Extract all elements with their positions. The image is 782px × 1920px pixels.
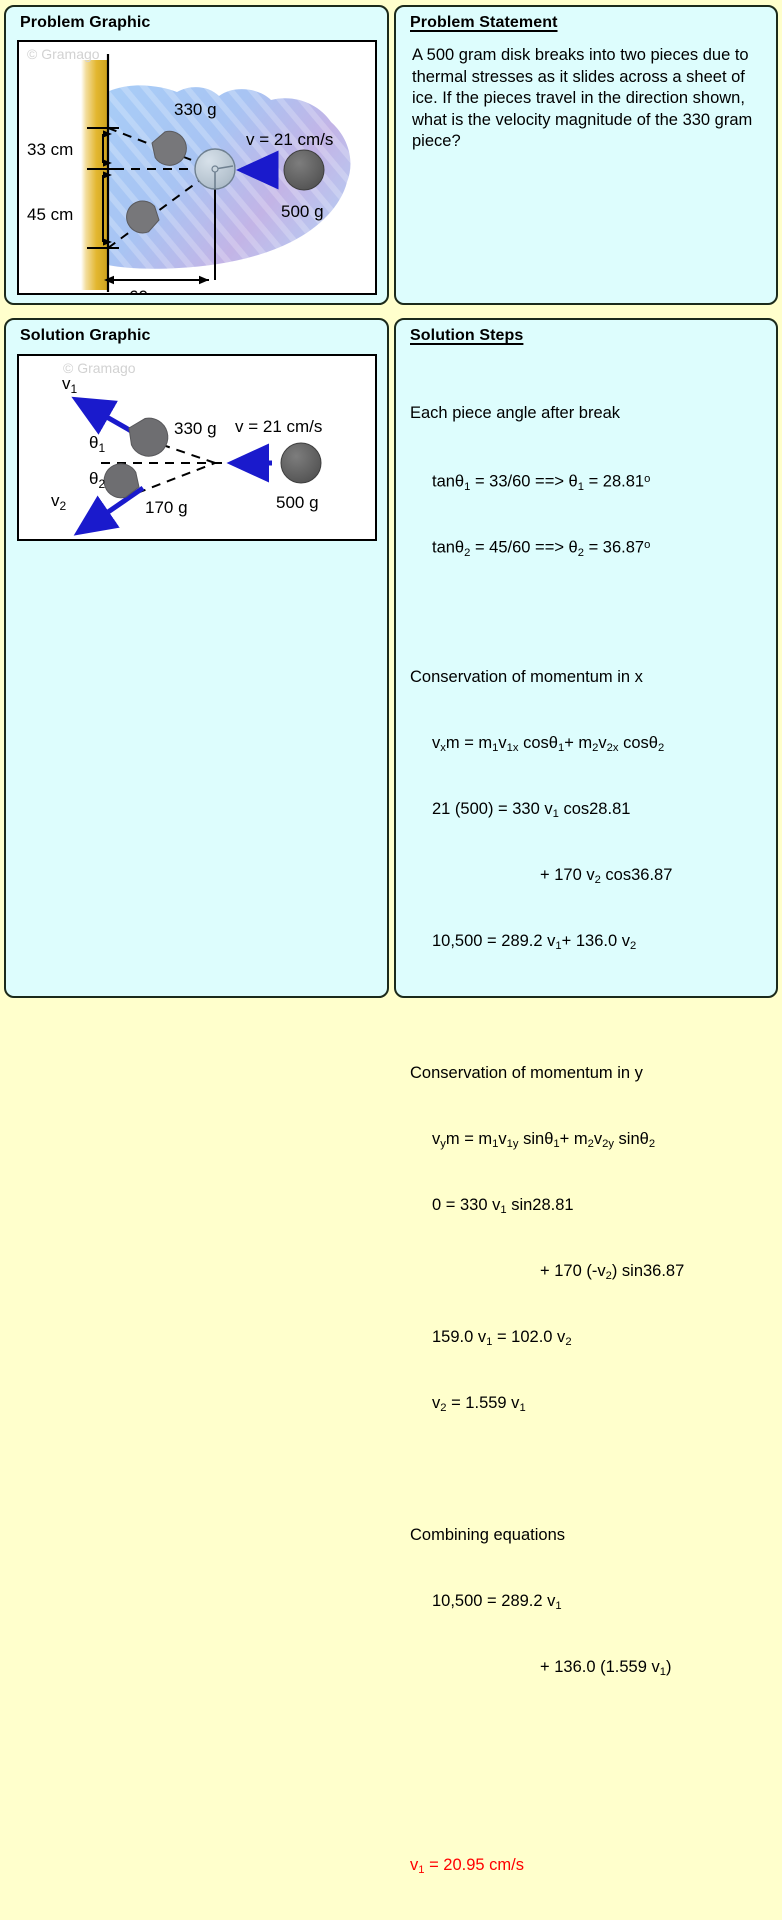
watermark-problem: © Gramago: [27, 46, 100, 62]
solution-label-v1: v1: [62, 374, 78, 396]
solution-diagram-svg: v1 v2 θ1 θ2 330 g 170 g v = 21 cm/s 500 …: [19, 356, 375, 539]
step-line: vym = m1v1y sinθ1+ m2v2y sinθ2: [410, 1128, 770, 1150]
step-line: Each piece angle after break: [410, 402, 770, 424]
label-500g: 500 g: [281, 202, 324, 221]
problem-statement-text: A 500 gram disk breaks into two pieces d…: [412, 45, 764, 153]
solution-graphic-title: Solution Graphic: [20, 327, 151, 345]
label-velocity: v = 21 cm/s: [246, 130, 333, 149]
step-line: Combining equations: [410, 1524, 770, 1546]
solution-steps-panel: Solution Steps Each piece angle after br…: [394, 318, 778, 998]
solution-label-theta1: θ1: [89, 433, 105, 455]
problem-diagram: 330 g v = 21 cm/s 500 g 33 cm 45 cm 60 c…: [17, 40, 377, 295]
solution-label-500g: 500 g: [276, 493, 319, 512]
solution-label-velocity: v = 21 cm/s: [235, 417, 322, 436]
label-60cm: 60 cm: [129, 287, 175, 293]
solution-fragment-170g: [99, 459, 142, 502]
label-45cm: 45 cm: [27, 205, 73, 224]
final-answer: v1 = 20.95 cm/s: [410, 1854, 770, 1876]
step-spacer: [410, 1458, 770, 1480]
step-line: + 170 (-v2) sin36.87: [410, 1260, 770, 1282]
step-line: Conservation of momentum in x: [410, 666, 770, 688]
step-line: tanθ2 = 45/60 ==> θ2 = 36.87o: [410, 534, 770, 556]
solution-label-v2: v2: [51, 491, 67, 513]
label-330g: 330 g: [174, 100, 217, 119]
incoming-disk-500g: [284, 150, 324, 190]
wall: [81, 54, 109, 292]
break-disk: [195, 149, 235, 189]
solution-fragment-330g: [126, 414, 172, 460]
step-line: Conservation of momentum in y: [410, 1062, 770, 1084]
solution-label-170g: 170 g: [145, 498, 188, 517]
solution-disk-500g: [281, 443, 321, 483]
worksheet-page: Problem Graphic: [0, 0, 782, 1003]
step-line: v2 = 1.559 v1: [410, 1392, 770, 1414]
problem-statement-title: Problem Statement: [410, 14, 558, 32]
problem-statement-panel: Problem Statement A 500 gram disk breaks…: [394, 5, 778, 305]
solution-label-theta2: θ2: [89, 469, 105, 491]
step-line: 0 = 330 v1 sin28.81: [410, 1194, 770, 1216]
step-line: 159.0 v1 = 102.0 v2: [410, 1326, 770, 1348]
solution-diagram: v1 v2 θ1 θ2 330 g 170 g v = 21 cm/s 500 …: [17, 354, 377, 541]
solution-label-330g: 330 g: [174, 419, 217, 438]
step-line: 10,500 = 289.2 v1+ 136.0 v2: [410, 930, 770, 952]
watermark-solution: © Gramago: [63, 360, 136, 376]
problem-diagram-svg: 330 g v = 21 cm/s 500 g 33 cm 45 cm 60 c…: [19, 42, 375, 293]
step-spacer: [410, 996, 770, 1018]
step-line: + 136.0 (1.559 v1): [410, 1656, 770, 1678]
solution-graphic-panel: Solution Graphic: [4, 318, 389, 998]
step-line: vxm = m1v1x cosθ1+ m2v2x cosθ2: [410, 732, 770, 754]
solution-steps-title: Solution Steps: [410, 327, 523, 345]
step-line: 21 (500) = 330 v1 cos28.81: [410, 798, 770, 820]
solution-steps-text: Each piece angle after break tanθ1 = 33/…: [410, 358, 770, 1920]
label-33cm: 33 cm: [27, 140, 73, 159]
step-spacer: [410, 1722, 770, 1744]
problem-graphic-panel: Problem Graphic: [4, 5, 389, 305]
step-spacer: [410, 1788, 770, 1810]
step-line: 10,500 = 289.2 v1: [410, 1590, 770, 1612]
step-line: + 170 v2 cos36.87: [410, 864, 770, 886]
step-line: tanθ1 = 33/60 ==> θ1 = 28.81o: [410, 468, 770, 490]
step-spacer: [410, 600, 770, 622]
problem-graphic-title: Problem Graphic: [20, 14, 150, 32]
